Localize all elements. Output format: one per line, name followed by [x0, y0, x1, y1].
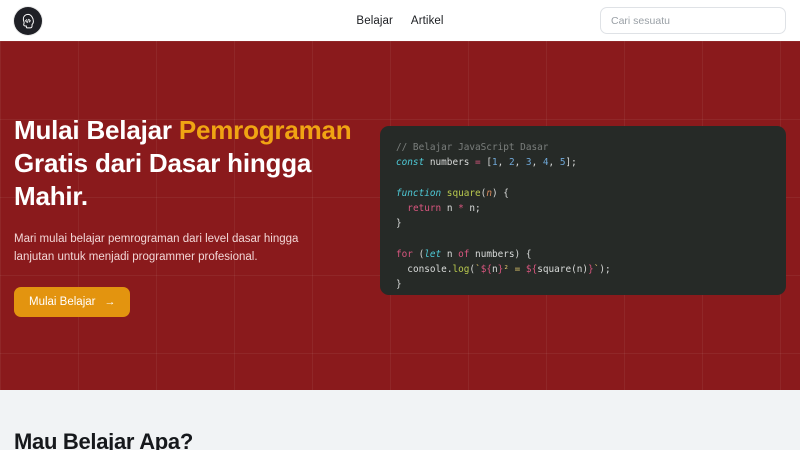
nav-item-artikel[interactable]: Artikel	[411, 15, 444, 27]
code-bracket-open: [	[481, 157, 492, 168]
hero-title-part1: Mulai Belajar	[14, 115, 179, 145]
code-tpl-open-1: ${	[481, 264, 492, 275]
hero-title-accent: Pemrograman	[179, 115, 352, 145]
code-str-equals: =	[509, 264, 526, 275]
site-header: Belajar Artikel	[0, 0, 800, 41]
code-brace-close-2: }	[396, 279, 402, 290]
mulai-belajar-button[interactable]: Mulai Belajar →	[14, 287, 130, 317]
code-obj-console: console	[407, 264, 447, 275]
search-input[interactable]	[611, 15, 775, 27]
code-sample-card: // Belajar JavaScript Dasar const number…	[380, 126, 786, 295]
next-section: Mau Belajar Apa?	[0, 390, 800, 450]
code-kw-of: of	[458, 249, 469, 260]
hero-section: Mulai Belajar Pemrograman Gratis dari Da…	[0, 41, 800, 390]
code-kw-const: const	[396, 157, 424, 168]
code-method-log: log	[452, 264, 469, 275]
code-for-paren: (	[413, 249, 424, 260]
code-for-array: numbers) {	[469, 249, 531, 260]
hero-content: Mulai Belajar Pemrograman Gratis dari Da…	[14, 114, 354, 317]
hero-title: Mulai Belajar Pemrograman Gratis dari Da…	[14, 114, 354, 212]
cta-label: Mulai Belajar	[29, 296, 95, 308]
site-logo[interactable]	[14, 7, 42, 35]
code-kw-function: function	[396, 188, 441, 199]
code-sep-3: ,	[532, 157, 543, 168]
code-var-numbers: numbers	[424, 157, 475, 168]
code-sep-4: ,	[549, 157, 560, 168]
code-expr-b: n;	[464, 203, 481, 214]
code-fn-square: square	[441, 188, 481, 199]
code-head-logo-icon	[19, 12, 37, 30]
code-bracket-close: ];	[565, 157, 576, 168]
code-paren-close: ) {	[492, 188, 509, 199]
hero-subtitle: Mari mulai belajar pemrograman dari leve…	[14, 230, 334, 267]
code-kw-for: for	[396, 249, 413, 260]
code-line-comment: // Belajar JavaScript Dasar	[396, 142, 548, 153]
hero-title-part2: Gratis dari Dasar hingga Mahir.	[14, 148, 311, 211]
code-brace-close-1: }	[396, 218, 402, 229]
code-kw-return: return	[407, 203, 441, 214]
code-expr-a: n	[441, 203, 458, 214]
code-for-var: n	[441, 249, 458, 260]
code-tpl-var-2: square(n)	[537, 264, 588, 275]
code-kw-let: let	[424, 249, 441, 260]
search-box[interactable]	[600, 7, 786, 34]
next-section-heading: Mau Belajar Apa?	[14, 429, 193, 450]
arrow-right-icon: →	[104, 296, 115, 308]
code-sep-2: ,	[515, 157, 526, 168]
code-sep-1: ,	[498, 157, 509, 168]
code-tpl-open-2: ${	[526, 264, 537, 275]
nav-item-belajar[interactable]: Belajar	[356, 15, 393, 27]
code-log-close: );	[599, 264, 610, 275]
